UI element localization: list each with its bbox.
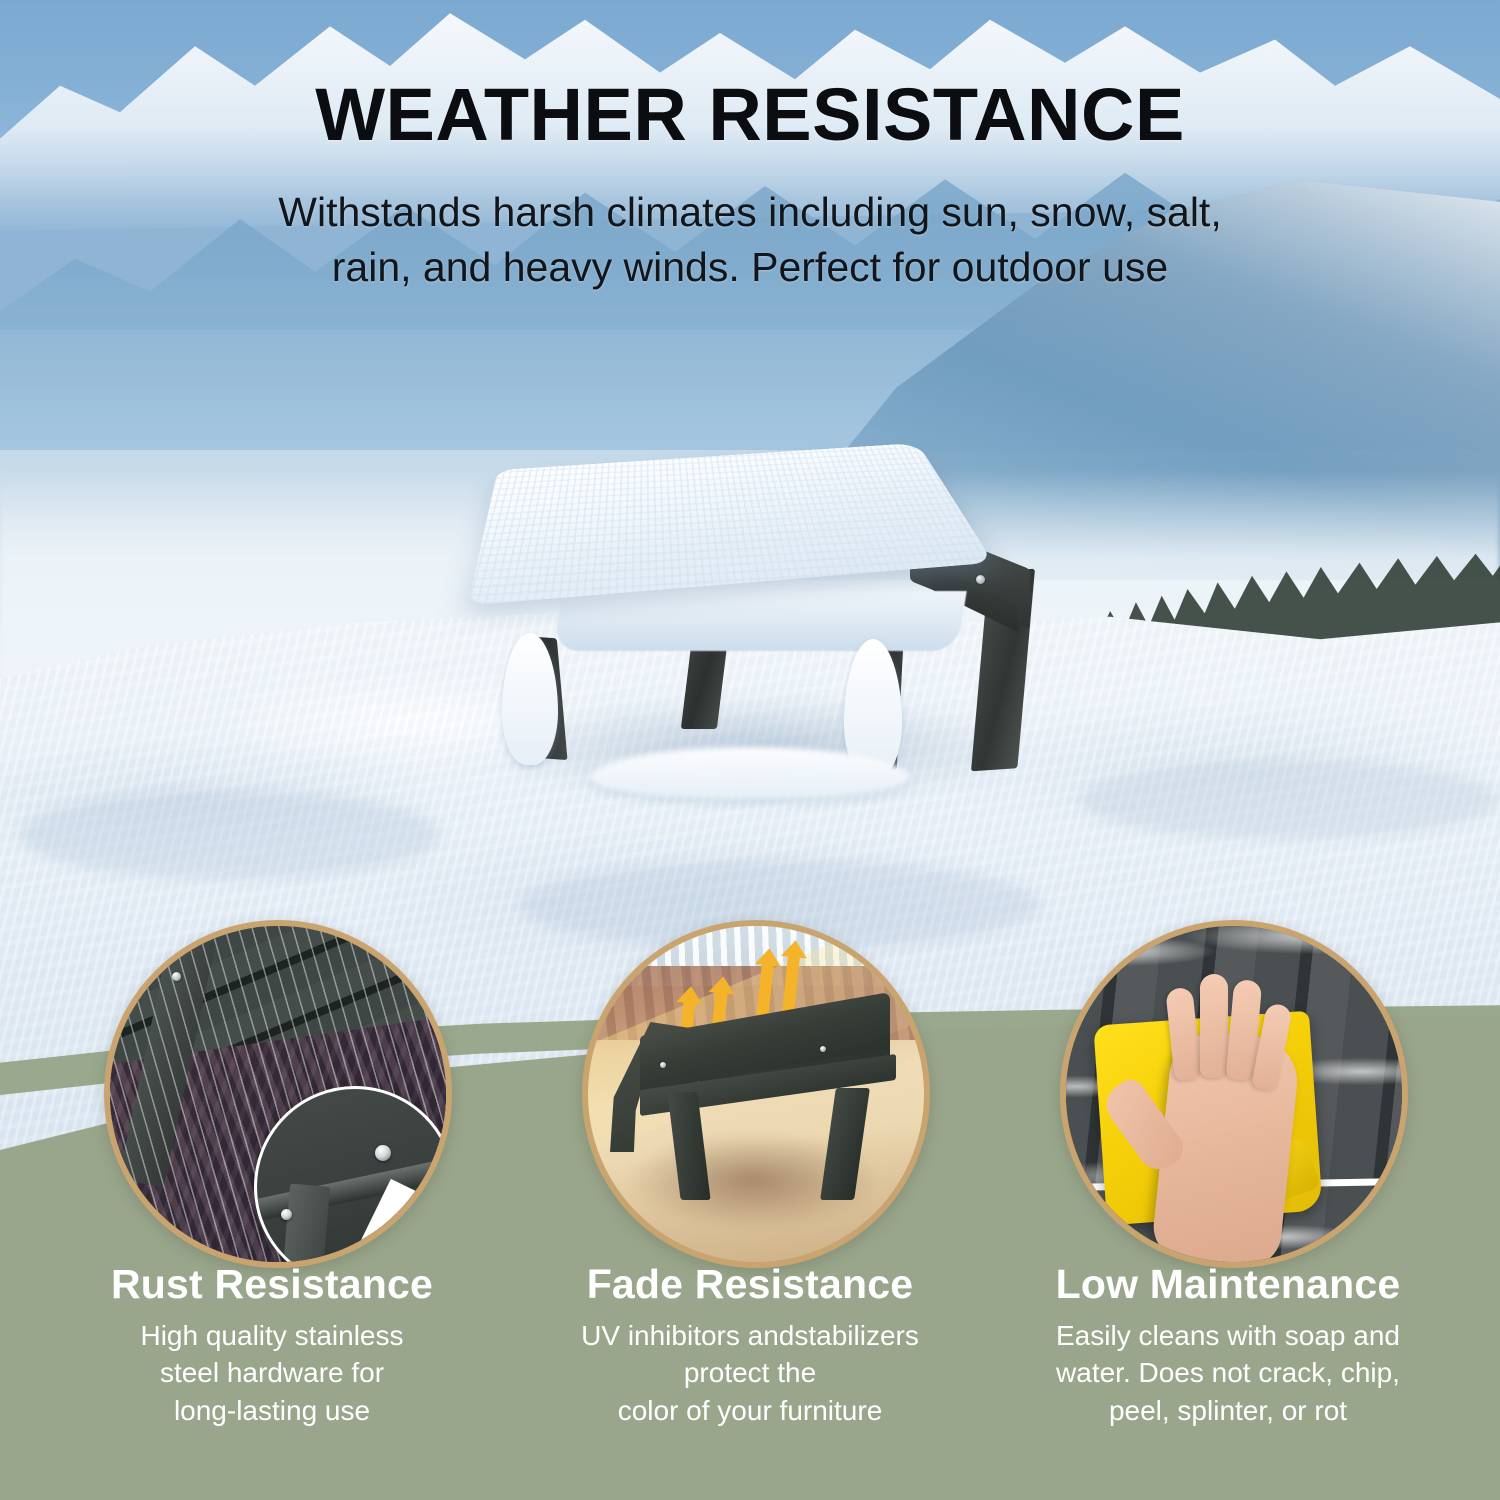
feature-caption-rust-resistance: Rust Resistance High quality stainless s… bbox=[52, 1262, 492, 1429]
feature-desc-line: High quality stainless bbox=[52, 1317, 492, 1355]
subtitle-line-2: rain, and heavy winds. Perfect for outdo… bbox=[0, 240, 1500, 295]
feature-title: Fade Resistance bbox=[530, 1262, 970, 1308]
feature-title: Low Maintenance bbox=[1008, 1262, 1448, 1308]
feature-desc-line: Easily cleans with soap and bbox=[1008, 1317, 1448, 1355]
feature-title: Rust Resistance bbox=[52, 1262, 492, 1308]
feature-desc-line: color of your furniture bbox=[530, 1392, 970, 1430]
feature-description: High quality stainless steel hardware fo… bbox=[52, 1317, 492, 1430]
stainless-screw-icon bbox=[281, 1209, 292, 1220]
hero-product-ottoman bbox=[440, 395, 1080, 815]
ottoman-seat-front-edge bbox=[553, 591, 967, 651]
feature-desc-line: protect the bbox=[530, 1354, 970, 1392]
feature-caption-low-maintenance: Low Maintenance Easily cleans with soap … bbox=[1008, 1262, 1448, 1429]
feature-description: Easily cleans with soap and water. Does … bbox=[1008, 1317, 1448, 1430]
feature-desc-line: water. Does not crack, chip, bbox=[1008, 1354, 1448, 1392]
feature-image-low-maintenance bbox=[1060, 920, 1408, 1268]
feature-caption-fade-resistance: Fade Resistance UV inhibitors andstabili… bbox=[530, 1262, 970, 1429]
feature-description: UV inhibitors andstabilizers protect the… bbox=[530, 1317, 970, 1430]
feature-image-rust-resistance bbox=[104, 920, 452, 1268]
bench-screw bbox=[660, 1062, 666, 1068]
feature-image-fade-resistance bbox=[582, 920, 930, 1268]
finger bbox=[1200, 974, 1228, 1078]
infographic-canvas: WEATHER RESISTANCE Withstands harsh clim… bbox=[0, 0, 1500, 1500]
snow-drift bbox=[1080, 760, 1500, 840]
feature-desc-line: peel, splinter, or rot bbox=[1008, 1392, 1448, 1430]
feature-desc-line: long-lasting use bbox=[52, 1392, 492, 1430]
page-title: WEATHER RESISTANCE bbox=[0, 72, 1500, 157]
feature-desc-line: UV inhibitors andstabilizers bbox=[530, 1317, 970, 1355]
page-subtitle: Withstands harsh climates including sun,… bbox=[0, 185, 1500, 296]
subtitle-line-1: Withstands harsh climates including sun,… bbox=[278, 189, 1221, 235]
ottoman-screw bbox=[976, 575, 985, 584]
snow-drift bbox=[20, 790, 440, 880]
feature-desc-line: steel hardware for bbox=[52, 1354, 492, 1392]
bench-screw bbox=[820, 1046, 826, 1052]
stainless-screw-icon bbox=[375, 1145, 391, 1161]
